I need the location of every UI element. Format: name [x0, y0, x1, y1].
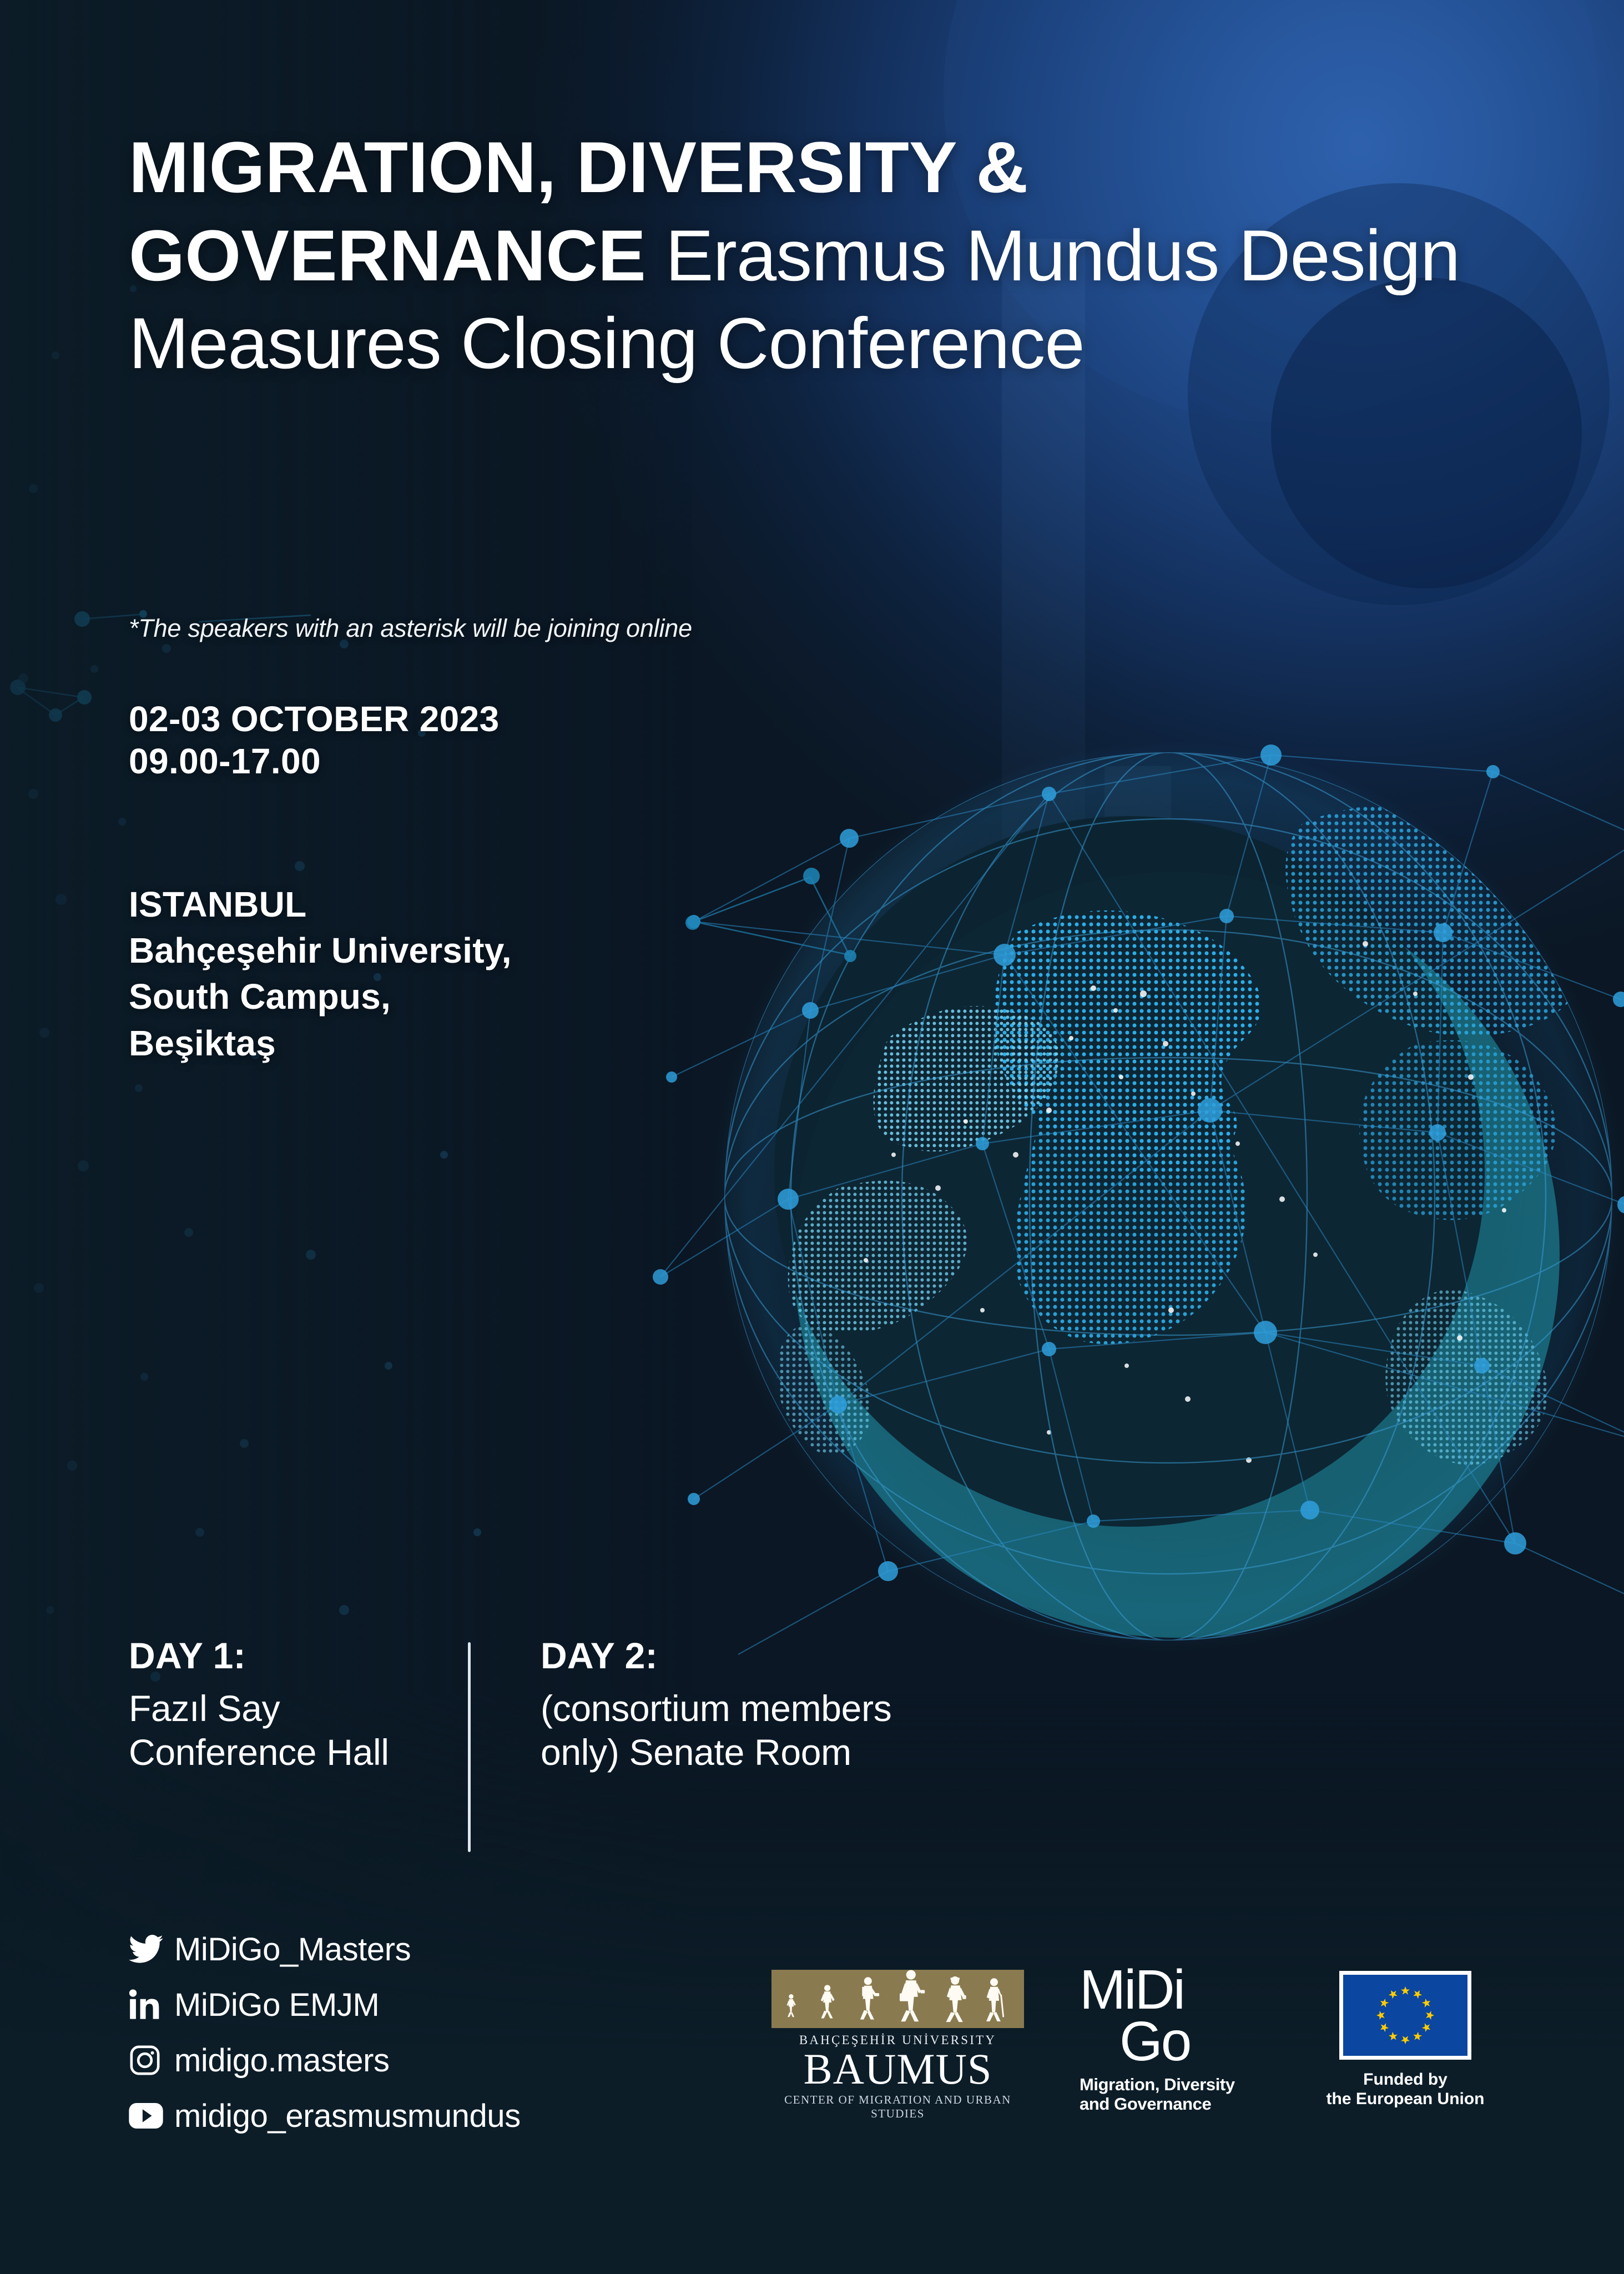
midigo-wordmark-line1: MiDi: [1080, 1964, 1246, 2015]
midigo-tagline: Migration, Diversity and Governance: [1080, 2075, 1246, 2114]
baumus-subtitle: CENTER OF MIGRATION AND URBAN STUDIES: [771, 2093, 1024, 2121]
day-columns-divider: [468, 1642, 471, 1852]
page-title: MIGRATION, DIVERSITY & GOVERNANCE Erasmu…: [129, 123, 1472, 388]
midigo-tagline-line1: Migration, Diversity: [1080, 2075, 1246, 2095]
day-2-column: DAY 2: (consortium members only) Senate …: [541, 1636, 929, 1774]
social-row-instagram[interactable]: midigo.masters: [129, 2035, 521, 2085]
day-1-column: DAY 1: Fazıl Say Conference Hall: [129, 1636, 451, 1774]
eu-stars-icon: [1343, 1975, 1467, 2056]
social-links: MiDiGo_Masters MiDiGo EMJM: [129, 1924, 521, 2146]
logo-row: BAHÇEŞEHİR UNİVERSITY BAUMUS CENTER OF M…: [771, 1960, 1549, 2149]
venue-university: Bahçeşehir University,: [129, 928, 512, 974]
youtube-handle: midigo_erasmusmundus: [174, 2097, 521, 2135]
day-2-location: (consortium members only) Senate Room: [541, 1687, 929, 1774]
baumus-figures-band: [771, 1970, 1024, 2028]
youtube-icon: [129, 2103, 168, 2129]
instagram-icon: [129, 2044, 168, 2076]
eu-flag: [1343, 1975, 1467, 2056]
eu-caption-line1: Funded by: [1322, 2070, 1489, 2089]
social-row-twitter[interactable]: MiDiGo_Masters: [129, 1924, 521, 1974]
midigo-logo: MiDi Go Migration, Diversity and Governa…: [1080, 1964, 1246, 2114]
day-1-heading: DAY 1:: [129, 1636, 451, 1677]
poster-canvas: MIGRATION, DIVERSITY & GOVERNANCE Erasmu…: [0, 0, 1624, 2274]
twitter-icon: [129, 1935, 168, 1964]
social-row-linkedin[interactable]: MiDiGo EMJM: [129, 1980, 521, 2030]
venue-district: Beşiktaş: [129, 1020, 512, 1066]
online-speakers-note: *The speakers with an asterisk will be j…: [129, 614, 692, 643]
baumus-wordmark: BAUMUS: [771, 2049, 1024, 2090]
event-time-line: 09.00-17.00: [129, 741, 500, 783]
midigo-tagline-line2: and Governance: [1080, 2095, 1246, 2114]
midigo-wordmark-line2: Go: [1119, 2015, 1246, 2067]
eu-funding-caption: Funded by the European Union: [1322, 2070, 1489, 2109]
day-1-location: Fazıl Say Conference Hall: [129, 1687, 451, 1774]
linkedin-handle: MiDiGo EMJM: [174, 1986, 379, 2024]
twitter-handle: MiDiGo_Masters: [174, 1931, 411, 1968]
event-date-line: 02-03 OCTOBER 2023: [129, 698, 500, 741]
day-2-heading: DAY 2:: [541, 1636, 929, 1677]
venue-city: ISTANBUL: [129, 882, 512, 928]
venue-campus: South Campus,: [129, 974, 512, 1020]
social-row-youtube[interactable]: midigo_erasmusmundus: [129, 2091, 521, 2141]
baumus-logo: BAHÇEŞEHİR UNİVERSITY BAUMUS CENTER OF M…: [771, 1970, 1038, 2121]
event-venue: ISTANBUL Bahçeşehir University, South Ca…: [129, 882, 512, 1066]
eu-caption-line2: the European Union: [1322, 2089, 1489, 2109]
walking-figures-icon: [782, 1970, 1016, 2028]
event-dates: 02-03 OCTOBER 2023 09.00-17.00: [129, 698, 500, 782]
linkedin-icon: [129, 1989, 168, 2020]
eu-flag-border: [1339, 1971, 1471, 2060]
eu-funding-logo: Funded by the European Union: [1322, 1971, 1489, 2109]
instagram-handle: midigo.masters: [174, 2042, 390, 2079]
